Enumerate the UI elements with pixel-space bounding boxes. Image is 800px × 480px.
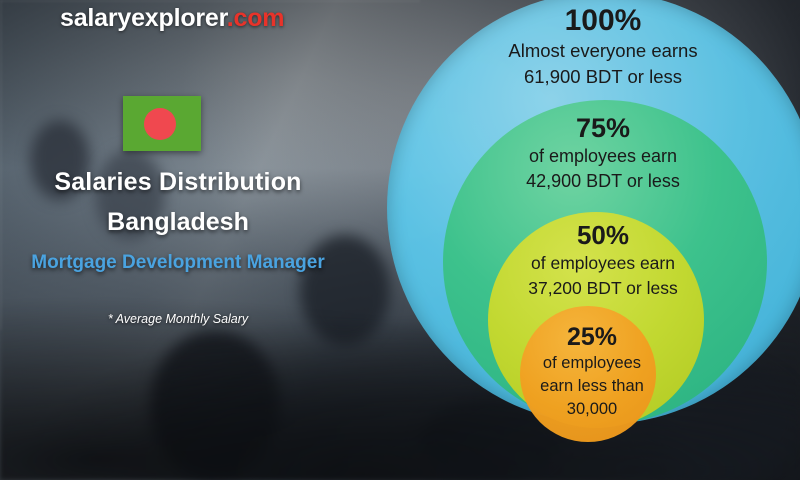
logo-part-salary: salary bbox=[60, 4, 131, 32]
bangladesh-flag-icon bbox=[123, 96, 201, 151]
label-group-25: 25% of employees earn less than 30,000 bbox=[480, 322, 704, 421]
logo-part-explorer: explorer bbox=[131, 4, 227, 32]
percent-100: 100% bbox=[380, 4, 800, 38]
percent-25: 25% bbox=[480, 322, 704, 352]
text-25-line1: of employees bbox=[543, 354, 641, 372]
percent-75: 75% bbox=[420, 112, 786, 144]
country-label: Bangladesh bbox=[0, 208, 356, 237]
text-100-line2: 61,900 BDT or less bbox=[524, 66, 682, 87]
footnote-label: * Average Monthly Salary bbox=[0, 312, 356, 326]
flag-red-circle bbox=[144, 108, 176, 140]
page-title: Salaries Distribution bbox=[0, 168, 356, 197]
logo-part-domain: .com bbox=[227, 4, 285, 32]
text-75-line2: 42,900 BDT or less bbox=[526, 171, 680, 191]
salary-distribution-chart: 100% Almost everyone earns 61,900 BDT or… bbox=[340, 0, 800, 480]
percent-50: 50% bbox=[452, 220, 754, 251]
label-group-100: 100% Almost everyone earns 61,900 BDT or… bbox=[380, 4, 800, 90]
label-group-75: 75% of employees earn 42,900 BDT or less bbox=[420, 112, 786, 194]
text-25-line3: 30,000 bbox=[567, 400, 617, 418]
text-100-line1: Almost everyone earns bbox=[508, 40, 697, 61]
job-title-label: Mortgage Development Manager bbox=[0, 250, 356, 275]
label-group-50: 50% of employees earn 37,200 BDT or less bbox=[452, 220, 754, 301]
text-75-line1: of employees earn bbox=[529, 146, 677, 166]
text-50-line2: 37,200 BDT or less bbox=[528, 278, 677, 298]
site-logo[interactable]: salaryexplorer.com bbox=[60, 4, 284, 33]
text-50-line1: of employees earn bbox=[531, 253, 675, 273]
text-25-line2: earn less than bbox=[540, 377, 644, 395]
